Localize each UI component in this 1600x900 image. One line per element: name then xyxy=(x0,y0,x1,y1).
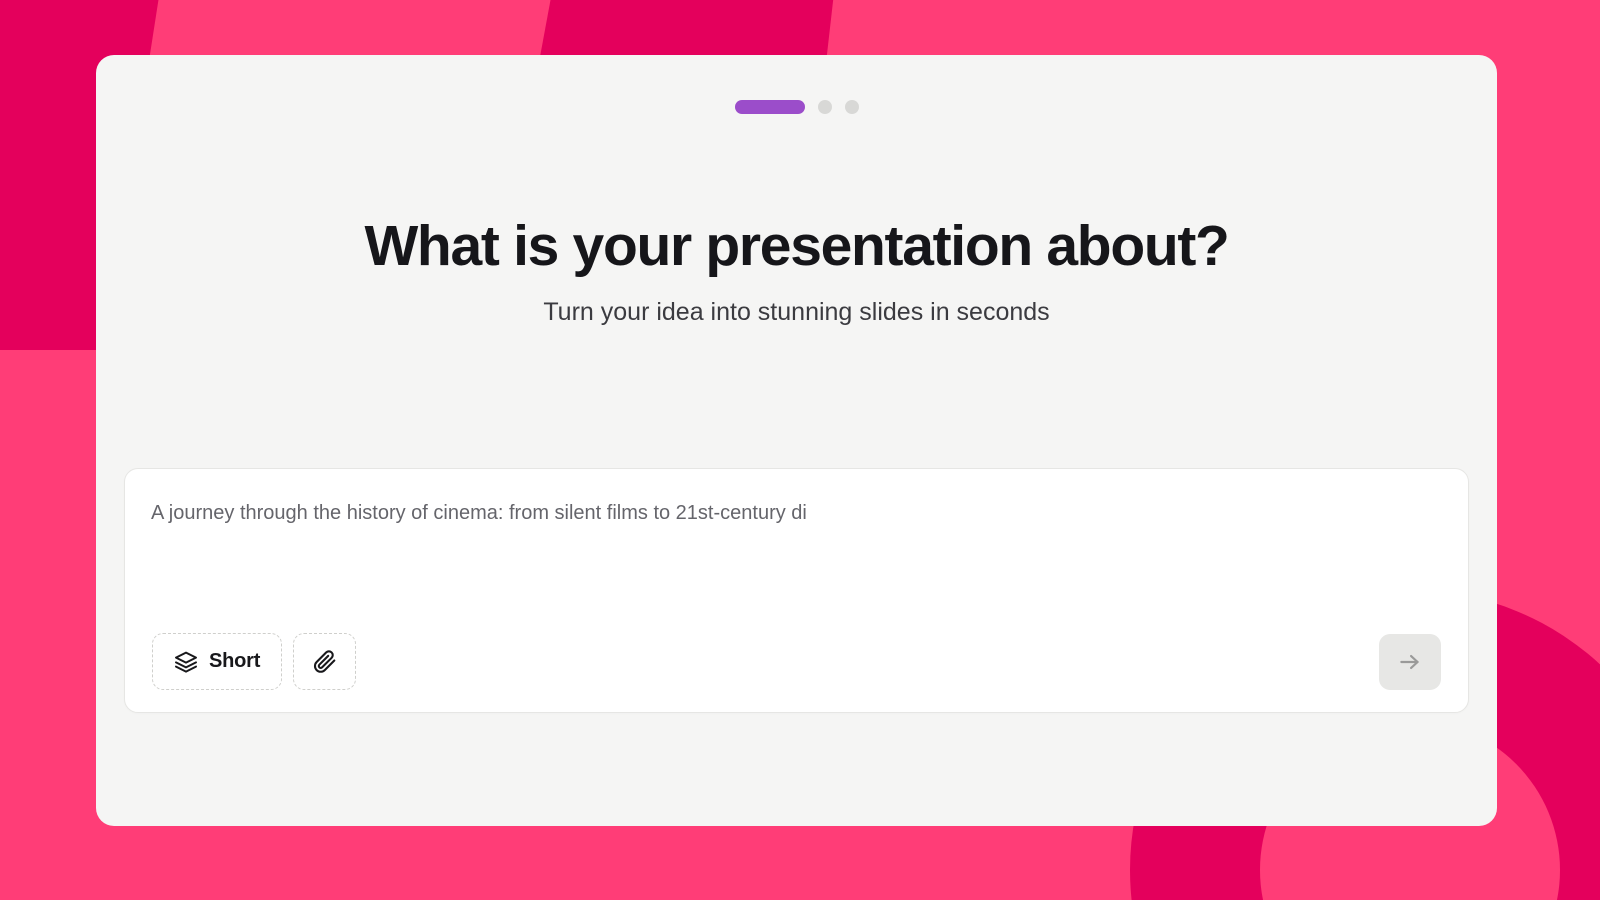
arrow-right-icon xyxy=(1397,649,1423,675)
progress-indicator xyxy=(735,99,859,115)
attach-file-button[interactable] xyxy=(293,633,356,690)
paperclip-icon xyxy=(312,649,337,674)
page-subtitle: Turn your idea into stunning slides in s… xyxy=(96,298,1497,327)
progress-step-1-active[interactable] xyxy=(735,100,805,114)
presentation-length-button[interactable]: Short xyxy=(152,633,282,690)
progress-step-2[interactable] xyxy=(818,100,832,114)
presentation-length-label: Short xyxy=(209,650,260,673)
main-card: What is your presentation about? Turn yo… xyxy=(96,55,1497,826)
prompt-toolbar-left: Short xyxy=(152,633,356,690)
prompt-input-panel[interactable]: A journey through the history of cinema:… xyxy=(124,468,1469,713)
progress-step-3[interactable] xyxy=(845,100,859,114)
layers-icon xyxy=(174,650,198,674)
prompt-input-text[interactable]: A journey through the history of cinema:… xyxy=(151,499,1428,527)
prompt-toolbar: Short xyxy=(152,633,1441,690)
submit-button[interactable] xyxy=(1379,634,1441,690)
page-title: What is your presentation about? xyxy=(96,215,1497,278)
header-block: What is your presentation about? Turn yo… xyxy=(96,215,1497,327)
